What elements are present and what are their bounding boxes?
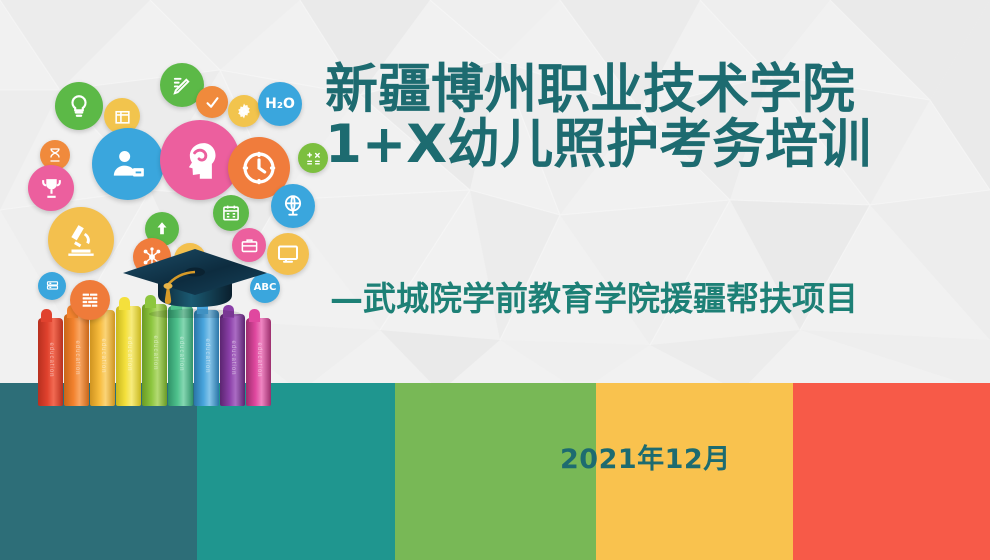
page-title-line-1: 新疆博州职业技术学院 <box>325 62 965 117</box>
globe-icon <box>271 184 315 228</box>
gear-icon <box>228 95 260 127</box>
band-red <box>793 383 990 560</box>
band-teal <box>197 383 395 560</box>
monitor-icon <box>267 233 309 275</box>
check-icon <box>196 86 228 118</box>
icon-cluster: H₂O <box>0 0 340 400</box>
text-block-icon <box>70 280 110 320</box>
water-icon: H₂O <box>258 82 302 126</box>
calendar-icon <box>213 195 249 231</box>
lightbulb-icon <box>55 82 103 130</box>
person-icon <box>92 128 164 200</box>
database-icon <box>38 272 66 300</box>
page-title-line-2: 1+X幼儿照护考务培训 <box>325 117 965 172</box>
graduation-cap <box>120 243 270 318</box>
microscope-icon <box>48 207 114 273</box>
page-subtitle: —武城院学前教育学院援疆帮扶项目 <box>330 272 970 320</box>
color-band-strip <box>0 383 990 560</box>
band-dark-teal <box>0 383 197 560</box>
title-block: 新疆博州职业技术学院 1+X幼儿照护考务培训 <box>325 62 965 172</box>
presentation-slide: H₂O <box>0 0 990 560</box>
date-label: 2021年12月 <box>560 437 731 476</box>
math-icon <box>298 143 328 173</box>
water-label: H₂O <box>265 97 295 111</box>
trophy-icon <box>28 165 74 211</box>
